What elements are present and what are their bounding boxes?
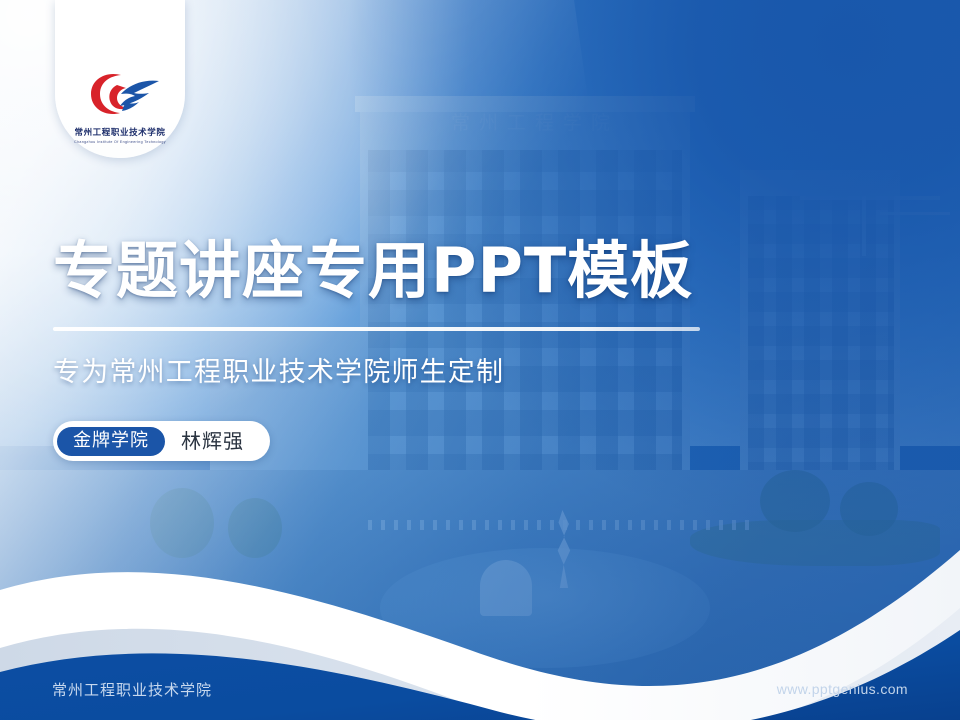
footer-website[interactable]: www.pptgenius.com — [777, 681, 908, 697]
university-logo-tab: 常州工程职业技术学院 Changzhou Institute Of Engine… — [55, 0, 185, 158]
university-emblem-icon — [77, 68, 163, 120]
title-divider — [53, 327, 700, 331]
presenter-badge: 金牌学院 林辉强 — [53, 421, 270, 461]
badge-tag: 金牌学院 — [57, 427, 165, 456]
page-subtitle: 专为常州工程职业技术学院师生定制 — [53, 350, 504, 389]
presentation-slide: 常州工程学院 常州工程职业技术学院 Changzhou Institute — [0, 0, 960, 720]
page-title: 专题讲座专用PPT模板 — [53, 240, 693, 302]
footer-school-name: 常州工程职业技术学院 — [52, 679, 212, 700]
logo-name-cn: 常州工程职业技术学院 — [74, 126, 165, 138]
presenter-name: 林辉强 — [165, 431, 266, 451]
logo-name-en: Changzhou Institute Of Engineering Techn… — [74, 140, 166, 144]
